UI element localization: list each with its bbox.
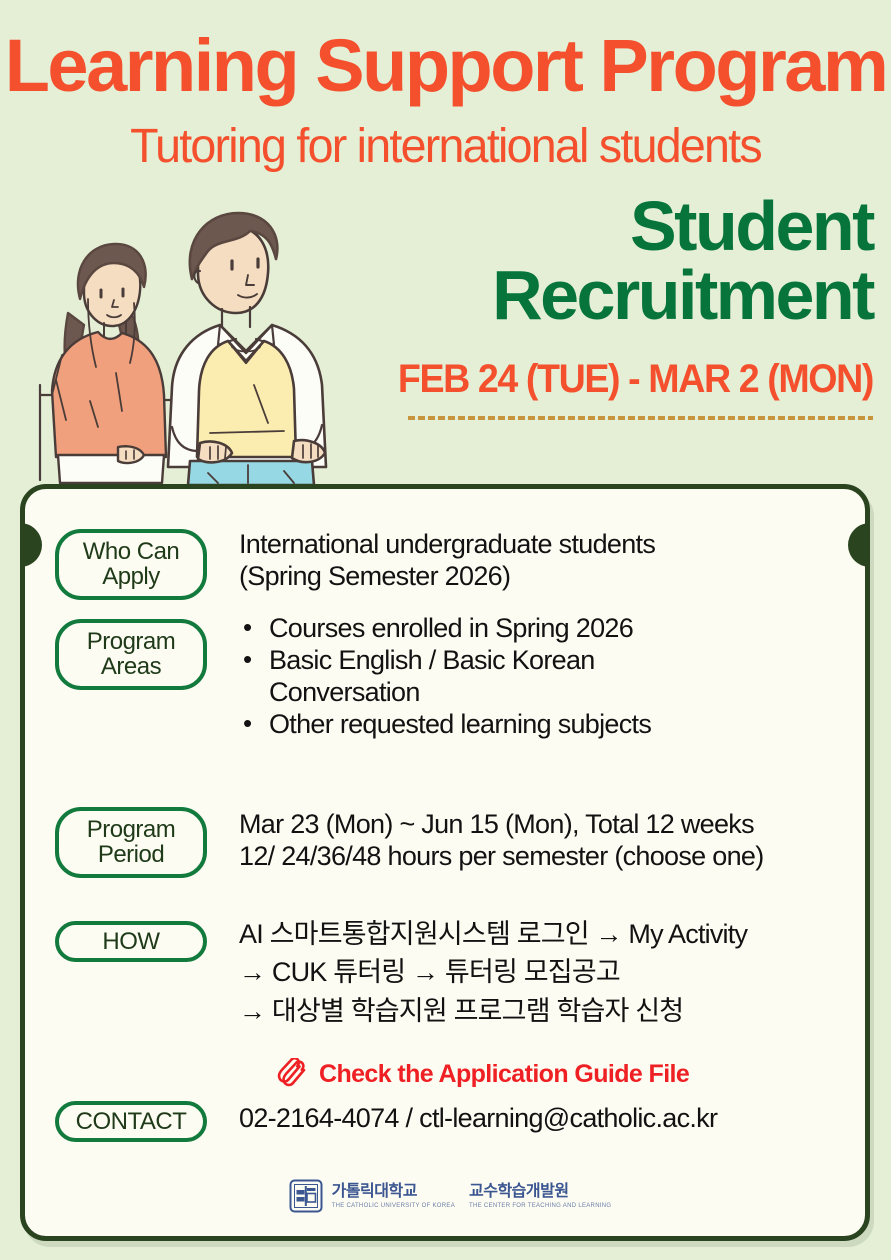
- list-item-label: Basic English / Basic Korean: [269, 645, 595, 675]
- label-who-can-apply: Who Can Apply: [55, 529, 207, 600]
- label-line-1: Program: [87, 816, 176, 843]
- body-contact[interactable]: 02-2164-4074 / ctl-learning@catholic.ac.…: [239, 1103, 717, 1135]
- label-contact: CONTACT: [55, 1101, 207, 1142]
- page-title: Learning Support Program: [0, 28, 891, 103]
- body-line: 12/ 24/36/48 hours per semester (choose …: [239, 841, 764, 873]
- label-line-2: Period: [98, 841, 164, 868]
- body-program-areas: Courses enrolled in Spring 2026 Basic En…: [239, 613, 651, 740]
- logo-university: 가톨릭대학교 THE CATHOLIC UNIVERSITY OF KOREA: [332, 1183, 455, 1209]
- row-program-period: Program Period Mar 23 (Mon) ~ Jun 15 (Mo…: [55, 807, 764, 878]
- logo-english-1: THE CATHOLIC UNIVERSITY OF KOREA: [332, 1203, 455, 1209]
- body-line: AI 스마트통합지원시스템 로그인 → My Activity: [239, 915, 747, 953]
- page-subtitle: Tutoring for international students: [13, 122, 877, 172]
- date-range: FEB 24 (TUE) - MAR 2 (MON): [384, 357, 873, 402]
- catholic-university-crest-icon: [289, 1179, 323, 1213]
- body-line: (Spring Semester 2026): [239, 561, 655, 593]
- list-item-label-cont: Conversation: [269, 677, 420, 707]
- application-guide-attachment[interactable]: Check the Application Guide File: [277, 1058, 689, 1090]
- list-item: Other requested learning subjects: [239, 709, 651, 741]
- row-contact: CONTACT 02-2164-4074 / ctl-learning@cath…: [55, 1101, 717, 1142]
- label-line-2: Apply: [102, 563, 160, 590]
- label-line-1: Who Can: [83, 538, 180, 565]
- logo-text: 가톨릭대학교 THE CATHOLIC UNIVERSITY OF KOREA …: [332, 1183, 612, 1209]
- paperclip-icon: [277, 1058, 307, 1090]
- body-line: International undergraduate students: [239, 529, 655, 561]
- body-line: → CUK 튜터링 → 튜터링 모집공고: [239, 953, 747, 991]
- logo-korean-2: 교수학습개발원: [469, 1183, 611, 1201]
- list-item-label: Other requested learning subjects: [269, 709, 651, 739]
- headline-block: Student Recruitment FEB 24 (TUE) - MAR 2…: [353, 192, 873, 420]
- headline-line-1: Student: [353, 192, 873, 261]
- footer-logo: 가톨릭대학교 THE CATHOLIC UNIVERSITY OF KOREA …: [25, 1179, 875, 1213]
- row-how: HOW AI 스마트통합지원시스템 로그인 → My Activity → CU…: [55, 921, 747, 1030]
- list-item: Courses enrolled in Spring 2026: [239, 613, 651, 645]
- list-item: Basic English / Basic Korean Conversatio…: [239, 645, 651, 709]
- logo-english-2: THE CENTER FOR TEACHING AND LEARNING: [469, 1203, 611, 1209]
- body-line: Mar 23 (Mon) ~ Jun 15 (Mon), Total 12 we…: [239, 809, 764, 841]
- label-line-1: Program: [87, 628, 176, 655]
- label-line-1: HOW: [102, 929, 159, 954]
- headline-line-2: Recruitment: [353, 261, 873, 330]
- label-program-period: Program Period: [55, 807, 207, 878]
- program-areas-list: Courses enrolled in Spring 2026 Basic En…: [239, 613, 651, 740]
- label-program-areas: Program Areas: [55, 619, 207, 690]
- body-who-can-apply: International undergraduate students (Sp…: [239, 529, 655, 593]
- logo-korean-1: 가톨릭대학교: [332, 1183, 455, 1201]
- label-line-2: Areas: [101, 653, 161, 680]
- body-how: AI 스마트통합지원시스템 로그인 → My Activity → CUK 튜터…: [239, 915, 747, 1030]
- body-line: → 대상별 학습지원 프로그램 학습자 신청: [239, 992, 747, 1030]
- label-line-1: CONTACT: [76, 1109, 187, 1134]
- row-who-can-apply: Who Can Apply International undergraduat…: [55, 529, 655, 600]
- list-item-label: Courses enrolled in Spring 2026: [269, 613, 633, 643]
- two-seated-students-illustration: [22, 195, 372, 485]
- dashed-divider: [408, 416, 873, 420]
- body-program-period: Mar 23 (Mon) ~ Jun 15 (Mon), Total 12 we…: [239, 809, 764, 873]
- attachment-label: Check the Application Guide File: [319, 1060, 689, 1089]
- card-rows: Who Can Apply International undergraduat…: [25, 489, 865, 1229]
- contact-line[interactable]: 02-2164-4074 / ctl-learning@catholic.ac.…: [239, 1103, 717, 1135]
- logo-center: 교수학습개발원 THE CENTER FOR TEACHING AND LEAR…: [469, 1183, 611, 1209]
- row-program-areas: Program Areas Courses enrolled in Spring…: [55, 619, 651, 740]
- info-card: Who Can Apply International undergraduat…: [20, 484, 870, 1241]
- poster-header: Learning Support Program Tutoring for in…: [0, 0, 891, 480]
- label-how: HOW: [55, 921, 207, 962]
